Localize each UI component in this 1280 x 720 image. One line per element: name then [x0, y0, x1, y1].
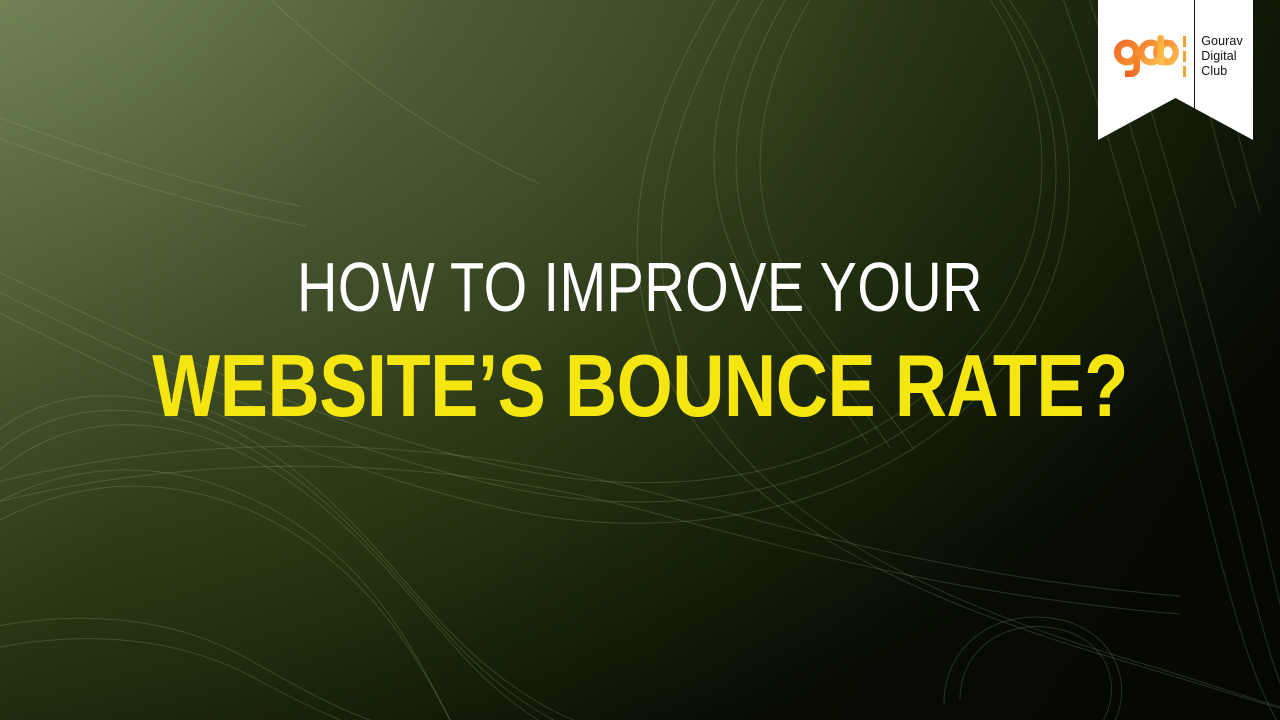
logo-accent-bars: [1183, 36, 1189, 77]
headline-block: HOW TO IMPROVE YOUR WEBSITE’S BOUNCE RAT…: [0, 248, 1280, 434]
brand-name-line-1: Gourav: [1201, 34, 1243, 49]
logo-divider: [1194, 0, 1195, 112]
slide-canvas: HOW TO IMPROVE YOUR WEBSITE’S BOUNCE RAT…: [0, 0, 1280, 720]
logo-accent-bar: [1183, 51, 1186, 62]
brand-name: Gourav Digital Club: [1201, 34, 1243, 79]
brand-name-line-2: Digital: [1201, 49, 1243, 64]
logo-accent-bar: [1183, 36, 1186, 47]
brand-name-line-3: Club: [1201, 64, 1243, 79]
gdc-monogram-icon: [1108, 31, 1180, 81]
brand-logo[interactable]: Gourav Digital Club: [1098, 0, 1253, 112]
headline-line-1: HOW TO IMPROVE YOUR: [128, 248, 1152, 326]
logo-accent-bar: [1183, 66, 1186, 77]
headline-line-2: WEBSITE’S BOUNCE RATE?: [115, 338, 1165, 434]
